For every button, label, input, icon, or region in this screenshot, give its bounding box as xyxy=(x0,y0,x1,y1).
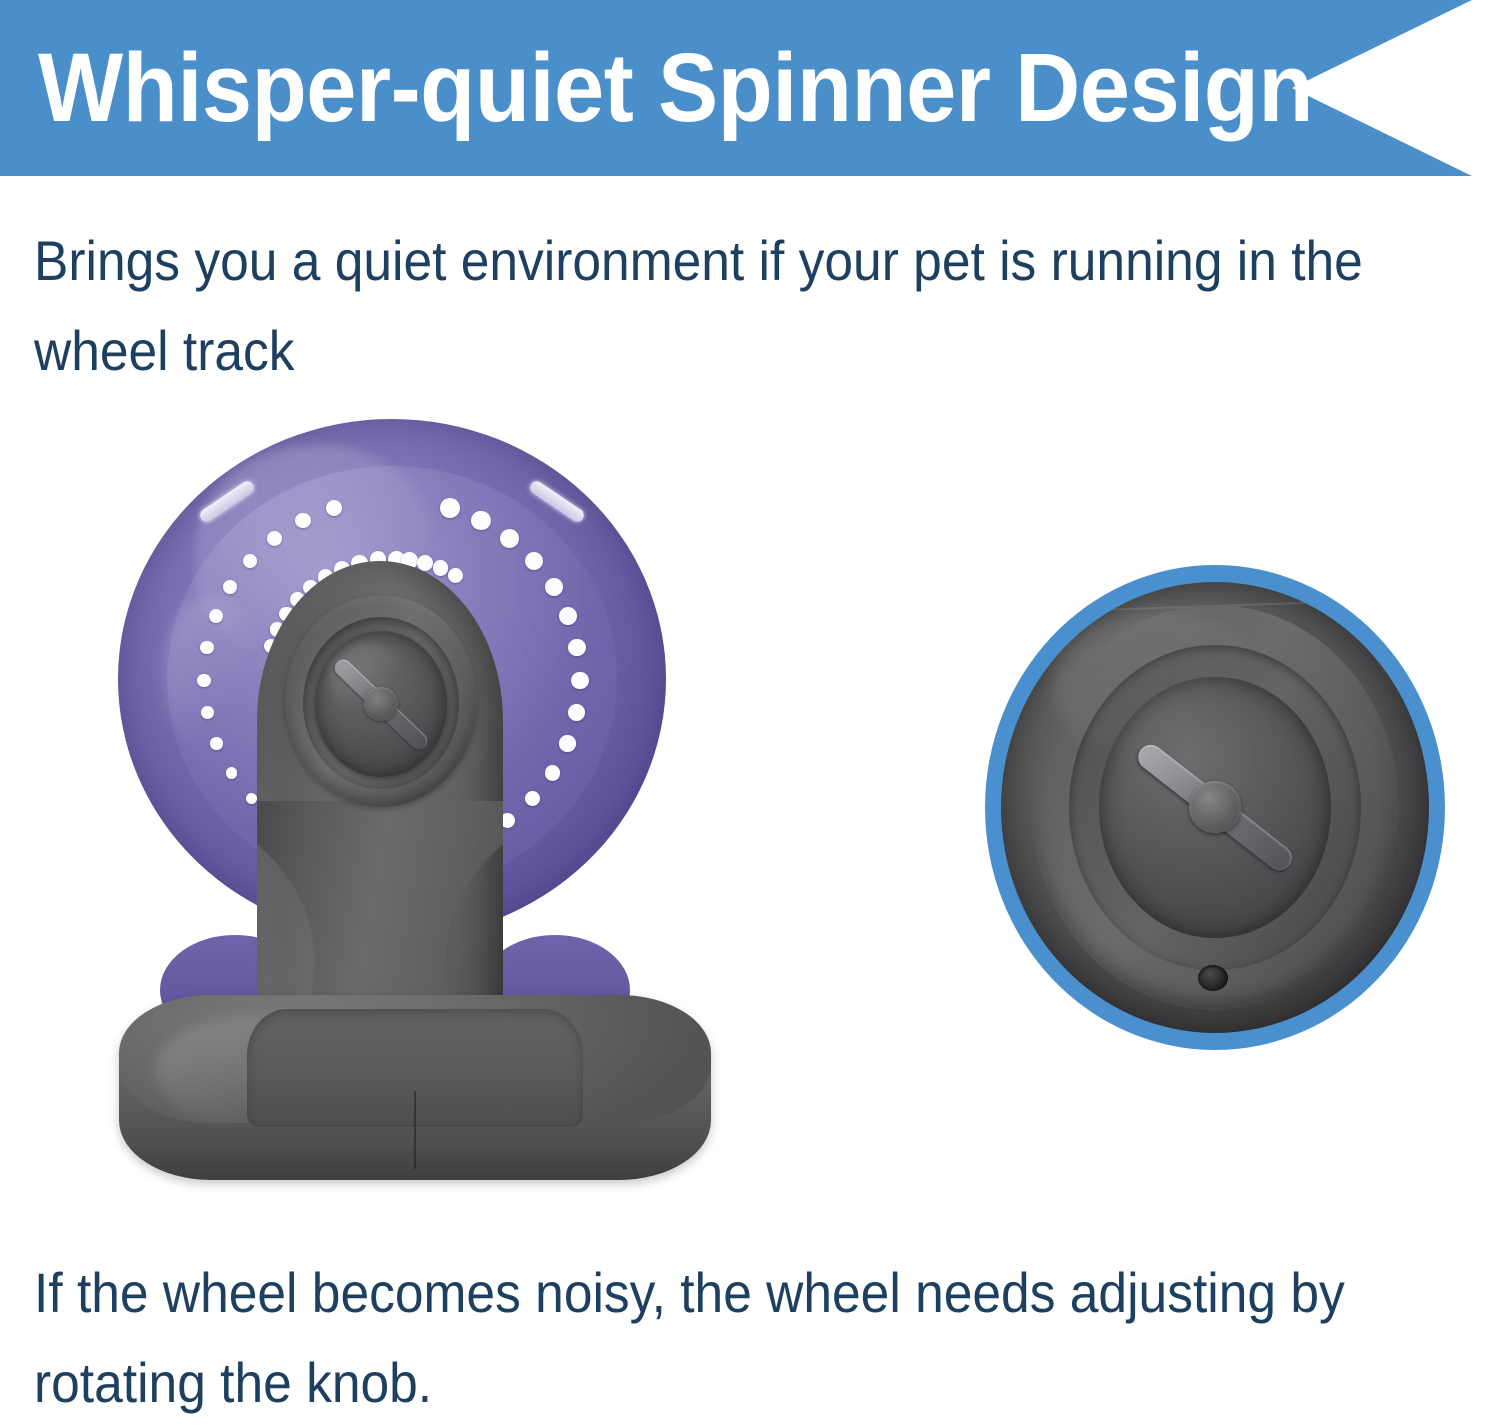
perforation-dot xyxy=(197,674,210,687)
perforation-dot xyxy=(545,578,563,596)
perforation-dot xyxy=(440,498,460,518)
callout-photo xyxy=(1001,582,1429,1033)
perforation-dot xyxy=(200,641,214,655)
base-platform xyxy=(119,995,711,1180)
perforation-dot xyxy=(210,737,222,749)
perforation-dot xyxy=(267,531,282,546)
perforation-dot xyxy=(326,500,342,516)
perforation-dot xyxy=(545,765,561,781)
intro-description: Brings you a quiet environment if your p… xyxy=(34,216,1432,396)
perforation-dot xyxy=(448,568,463,583)
product-photo xyxy=(105,415,725,1190)
perforation-dot xyxy=(226,767,238,779)
header-banner: Whisper-quiet Spinner Design xyxy=(0,0,1472,176)
knob-closeup-callout xyxy=(985,565,1445,1050)
adjustment-knob[interactable] xyxy=(315,631,447,777)
base-seam xyxy=(414,1091,416,1169)
perforation-dot xyxy=(571,672,588,689)
perforation-dot xyxy=(568,704,585,721)
callout-sheen xyxy=(1052,609,1266,762)
knob-hub xyxy=(364,687,398,721)
perforation-dot xyxy=(559,735,575,751)
perforation-dot xyxy=(500,529,519,548)
outro-description: If the wheel becomes noisy, the wheel ne… xyxy=(34,1248,1469,1428)
perforation-dot xyxy=(201,706,214,719)
perforation-dot xyxy=(209,609,223,623)
page-title: Whisper-quiet Spinner Design xyxy=(38,22,1191,154)
perforation-dot xyxy=(295,513,311,529)
